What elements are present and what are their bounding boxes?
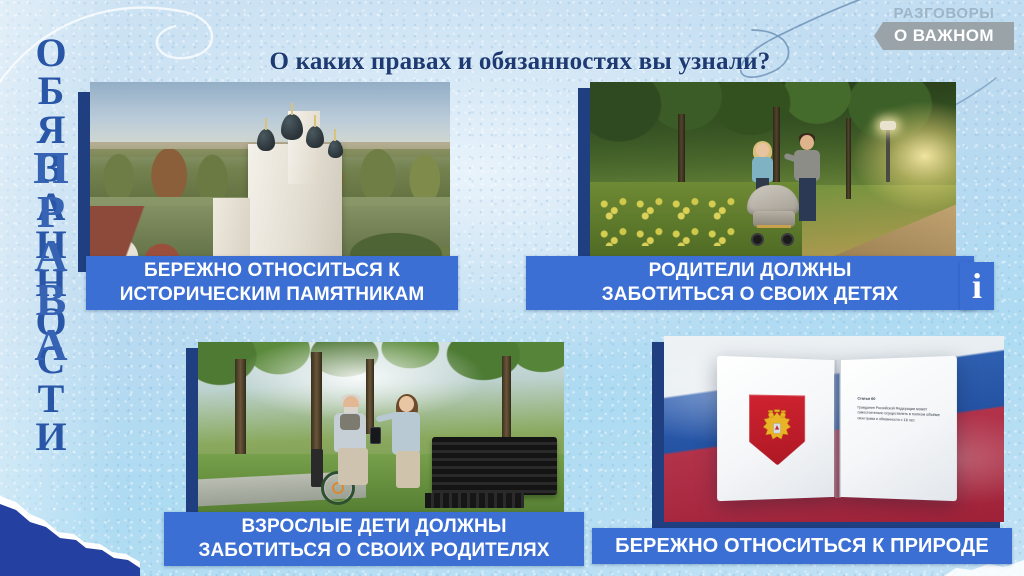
card-3-caption: ВЗРОСЛЫЕ ДЕТИ ДОЛЖНЫ ЗАБОТИТЬСЯ О СВОИХ … <box>164 512 584 566</box>
card-3-photo <box>198 342 564 512</box>
card-1-caption: БЕРЕЖНО ОТНОСИТЬСЯ К ИСТОРИЧЕСКИМ ПАМЯТН… <box>86 256 458 310</box>
card-2-caption-line-2: ЗАБОТИТЬСЯ О СВОИХ ДЕТЯХ <box>536 283 964 307</box>
page-title: О каких правах и обязанностях вы узнали? <box>150 48 890 76</box>
card-4-caption-line-1: БЕРЕЖНО ОТНОСИТЬСЯ К ПРИРОДЕ <box>602 534 1002 558</box>
vletter-i: И <box>35 418 66 456</box>
card-1-caption-line-1: БЕРЕЖНО ОТНОСИТЬСЯ К <box>96 259 448 283</box>
book-spine <box>835 360 841 499</box>
vletter-a1: А <box>34 234 67 278</box>
logo-line-1: РАЗГОВОРЫ <box>874 6 1014 21</box>
constitution-article-text: Статья 60 Гражданин Российской Федерации… <box>858 396 948 426</box>
status-badge[interactable]: i <box>960 262 994 310</box>
card-1-caption-line-2: ИСТОРИЧЕСКИМ ПАМЯТНИКАМ <box>96 283 448 307</box>
card-3-caption-line-2: ЗАБОТИТЬСЯ О СВОИХ РОДИТЕЛЯХ <box>174 539 574 563</box>
card-2-photo <box>590 82 956 260</box>
vletter-t: Т <box>38 380 65 418</box>
vletter-p: П <box>33 146 69 190</box>
program-logo: РАЗГОВОРЫ О ВАЖНОМ <box>874 6 1014 50</box>
article-heading: Статья 60 <box>858 396 948 404</box>
vertical-word-prava: П Р А В А <box>22 146 80 367</box>
logo-line-2: О ВАЖНОМ <box>894 26 994 46</box>
card-2-caption-line-1: РОДИТЕЛИ ДОЛЖНЫ <box>536 259 964 283</box>
card-4-photo: Статья 60 Гражданин Российской Федерации… <box>664 336 1004 522</box>
card-1-photo <box>90 82 450 264</box>
vletter-r: Р <box>37 190 65 234</box>
card-2-caption: РОДИТЕЛИ ДОЛЖНЫ ЗАБОТИТЬСЯ О СВОИХ ДЕТЯХ <box>526 256 974 310</box>
card-4-caption: БЕРЕЖНО ОТНОСИТЬСЯ К ПРИРОДЕ <box>592 528 1012 564</box>
vletter-a2: А <box>34 323 67 367</box>
slide-canvas: РАЗГОВОРЫ О ВАЖНОМ О каких правах и обяз… <box>0 0 1024 576</box>
constitution-book: Статья 60 Гражданин Российской Федерации… <box>718 358 956 499</box>
vletter-b: Б <box>38 72 64 110</box>
vertical-words-group: О Б Я З А Н Н О С Т И П Р А В А <box>22 34 80 534</box>
logo-ribbon: О ВАЖНОМ <box>874 22 1014 50</box>
card-3-caption-line-1: ВЗРОСЛЫЕ ДЕТИ ДОЛЖНЫ <box>174 515 574 539</box>
vletter-o: О <box>35 34 66 72</box>
article-body: Гражданин Российской Федерации может сам… <box>858 405 948 426</box>
vletter-v: В <box>36 278 67 322</box>
double-headed-eagle-icon <box>756 403 799 452</box>
russian-coat-of-arms-icon <box>749 395 805 467</box>
